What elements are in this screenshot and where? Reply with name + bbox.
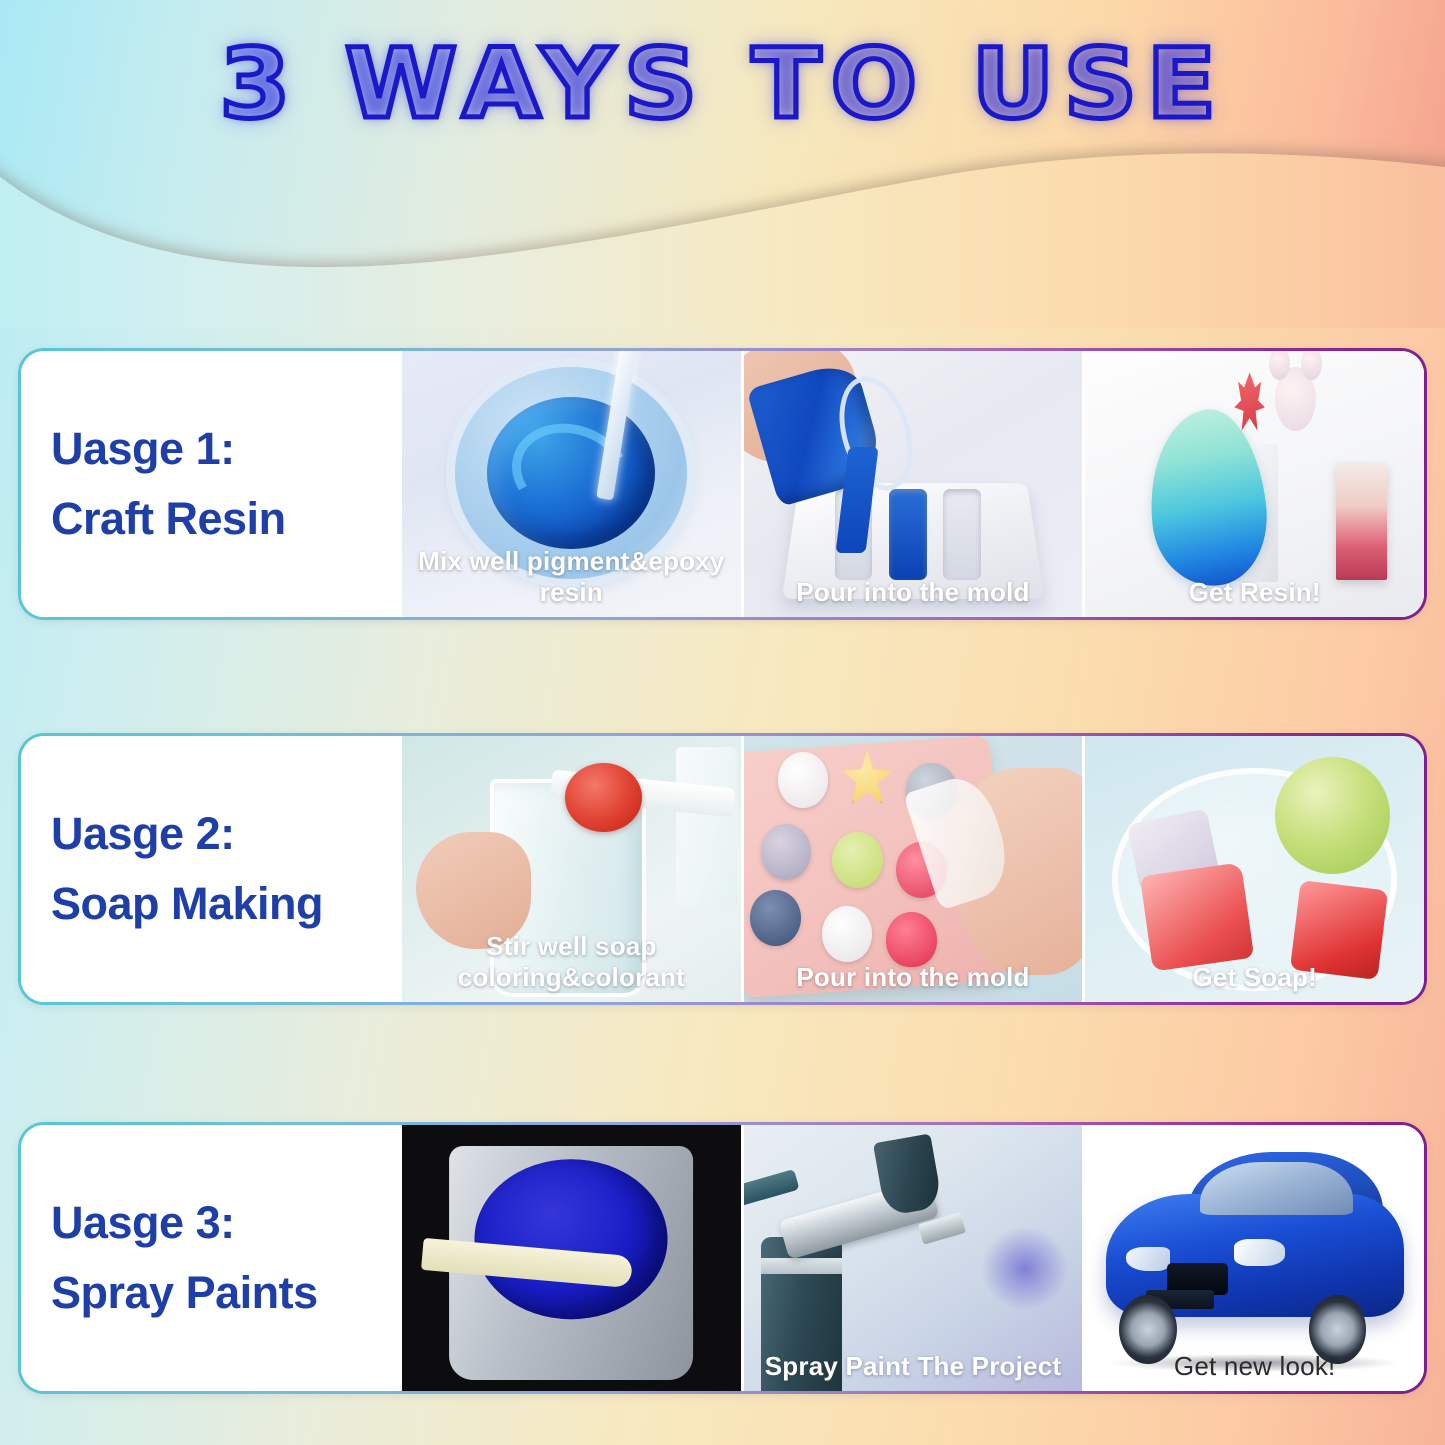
step-panel-1-3: Get Resin! [1082, 351, 1424, 617]
usage-steps-3: Spray Paint The Project Get new look! [402, 1125, 1424, 1391]
usage-label-1-line1: Uasge 1: [51, 414, 402, 484]
step-caption-1-3: Get Resin! [1085, 577, 1424, 608]
usage-label-2-line1: Uasge 2: [51, 799, 402, 869]
step-caption-3-3: Get new look! [1085, 1351, 1424, 1382]
usage-label-1-line2: Craft Resin [51, 484, 402, 554]
step-panel-2-2: Pour into the mold [741, 736, 1083, 1002]
usage-label-2-line2: Soap Making [51, 869, 402, 939]
step-panel-3-1 [402, 1125, 741, 1391]
step-panel-2-1: Stir well soap coloring&colorant [402, 736, 741, 1002]
step-panel-2-3: Get Soap! [1082, 736, 1424, 1002]
usage-label-2: Uasge 2: Soap Making [21, 736, 402, 1002]
wave-divider [0, 118, 1445, 328]
step-caption-2-3: Get Soap! [1085, 962, 1424, 993]
usage-label-1: Uasge 1: Craft Resin [21, 351, 402, 617]
usage-steps-1: Mix well pigment&epoxy resin Pour into t… [402, 351, 1424, 617]
step-panel-3-2: Spray Paint The Project [741, 1125, 1083, 1391]
step-caption-2-1: Stir well soap coloring&colorant [402, 931, 741, 993]
infographic-poster: 3 WAYS TO USE Uasge 1: Craft Resin Mix w… [0, 0, 1445, 1445]
usage-card-2: Uasge 2: Soap Making Stir well soap colo… [18, 733, 1427, 1005]
usage-label-3-line1: Uasge 3: [51, 1188, 402, 1258]
step-panel-1-1: Mix well pigment&epoxy resin [402, 351, 741, 617]
step-panel-3-3: Get new look! [1082, 1125, 1424, 1391]
step-panel-1-2: Pour into the mold [741, 351, 1083, 617]
usage-steps-2: Stir well soap coloring&colorant Pour in… [402, 736, 1424, 1002]
scene-blue-pigment-jar [402, 1125, 741, 1391]
usage-card-3: Uasge 3: Spray Paints Spray Paint The Pr… [18, 1122, 1427, 1394]
step-caption-3-2: Spray Paint The Project [744, 1351, 1083, 1382]
step-caption-1-1: Mix well pigment&epoxy resin [402, 546, 741, 608]
usage-card-1: Uasge 1: Craft Resin Mix well pigment&ep… [18, 348, 1427, 620]
step-caption-2-2: Pour into the mold [744, 962, 1083, 993]
usage-label-3-line2: Spray Paints [51, 1258, 402, 1328]
step-caption-1-2: Pour into the mold [744, 577, 1083, 608]
usage-label-3: Uasge 3: Spray Paints [21, 1125, 402, 1391]
